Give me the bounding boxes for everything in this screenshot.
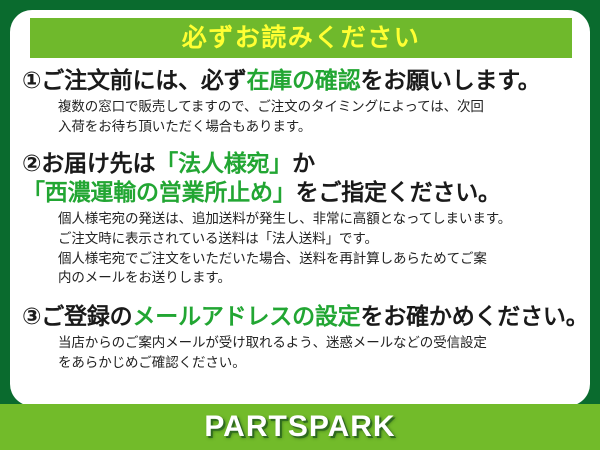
notice-item-3-head-part-3: をお確かめください。	[361, 303, 589, 329]
notice-item-3-head-part-1: ご登録の	[41, 303, 132, 329]
notice-item-2-head-part-1: お届け先は	[41, 150, 155, 176]
notice-item-1-head-part-1: ご注文前には、必ず	[41, 67, 246, 93]
notice-item-1-body-line-1: 複数の窓口で販売してますので、ご注文のタイミングによっては、次回	[58, 97, 582, 117]
notice-item-2-marker: ②	[22, 150, 41, 176]
notice-item-1: ①ご注文前には、必ず在庫の確認をお願いします。 複数の窓口で販売してますので、ご…	[10, 66, 590, 136]
notice-item-3-marker: ③	[22, 303, 41, 329]
notice-item-3-body-line-1: 当店からのご案内メールが受け取れるよう、迷惑メールなどの受信設定	[58, 333, 582, 353]
notice-item-1-head-part-3: をお願いします。	[361, 67, 541, 93]
notice-item-3: ③ご登録のメールアドレスの設定をお確かめください。 当店からのご案内メールが受け…	[10, 302, 590, 372]
notice-item-2-body-line-4: 内のメールをお送りします。	[58, 268, 582, 288]
notice-item-1-marker: ①	[22, 67, 41, 93]
notice-item-2: ②お届け先は「法人様宛」か「西濃運輸の営業所止め」をご指定ください。 個人様宅宛…	[10, 149, 590, 288]
header-title: 必ずお読みください	[182, 26, 421, 51]
notice-item-3-heading: ③ご登録のメールアドレスの設定をお確かめください。	[22, 302, 582, 331]
notice-item-3-head-highlight: メールアドレスの設定	[132, 303, 360, 329]
notice-item-2-head-part-3: か	[292, 150, 315, 176]
notice-item-1-heading: ①ご注文前には、必ず在庫の確認をお願いします。	[22, 66, 582, 95]
notice-item-1-body-line-2: 入荷をお待ち頂いただく場合もあります。	[58, 117, 582, 137]
notice-item-2-body-line-1: 個人様宅宛の発送は、追加送料が発生し、非常に高額となってしまいます。	[58, 209, 582, 229]
notice-item-2-body: 個人様宅宛の発送は、追加送料が発生し、非常に高額となってしまいます。 ご注文時に…	[58, 209, 582, 288]
notice-card: 必ずお読みください ①ご注文前には、必ず在庫の確認をお願いします。 複数の窓口で…	[10, 10, 590, 406]
notice-item-1-body: 複数の窓口で販売してますので、ご注文のタイミングによっては、次回 入荷をお待ち頂…	[58, 97, 582, 136]
header-bar: 必ずお読みください	[30, 18, 572, 58]
notice-item-3-body: 当店からのご案内メールが受け取れるよう、迷惑メールなどの受信設定 をあらかじめご…	[58, 333, 582, 372]
notice-item-2-body-line-3: 個人様宅宛でご注文をいただいた場合、送料を再計算しあらためてご案	[58, 249, 582, 269]
notice-item-2-head-part-5: をご指定ください。	[296, 179, 501, 205]
notice-banner: 必ずお読みください ①ご注文前には、必ず在庫の確認をお願いします。 複数の窓口で…	[0, 0, 600, 450]
notice-item-2-head-highlight-1: 「法人様宛」	[155, 150, 292, 176]
notice-item-2-heading: ②お届け先は「法人様宛」か「西濃運輸の営業所止め」をご指定ください。	[22, 149, 582, 207]
partspark-logo: PARTSPARK	[204, 412, 395, 442]
notice-item-1-head-highlight: 在庫の確認	[246, 67, 360, 93]
notice-items: ①ご注文前には、必ず在庫の確認をお願いします。 複数の窓口で販売してますので、ご…	[10, 64, 590, 373]
footer-bar: PARTSPARK	[0, 404, 600, 450]
notice-item-2-head-highlight-2: 「西濃運輸の営業所止め」	[22, 179, 296, 205]
notice-item-2-body-line-2: ご注文時に表示されている送料は「法人送料」です。	[58, 229, 582, 249]
notice-item-3-body-line-2: をあらかじめご確認ください。	[58, 353, 582, 373]
